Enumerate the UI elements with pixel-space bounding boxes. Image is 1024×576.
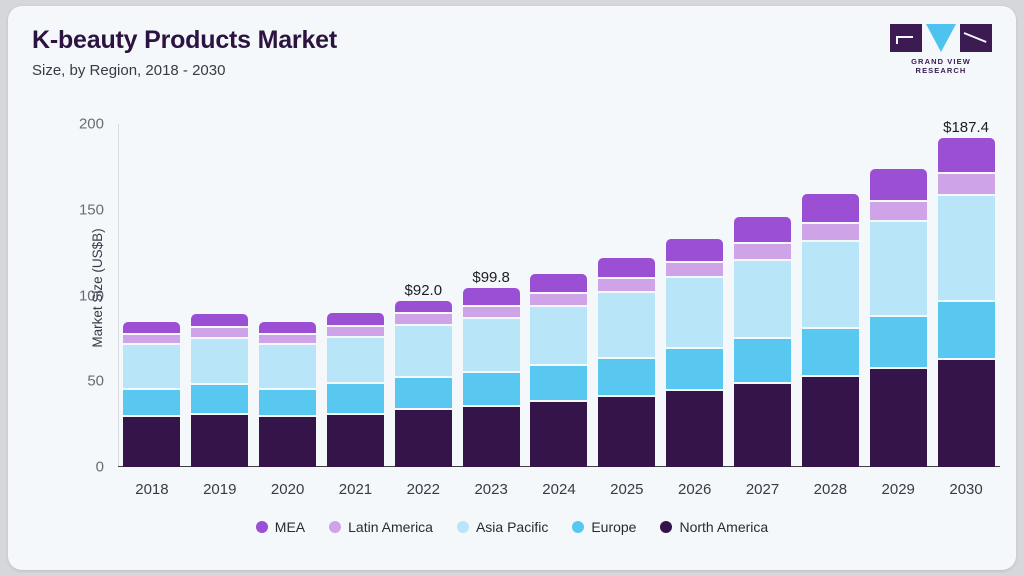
- bar-segment[interactable]: [870, 202, 927, 220]
- x-axis-tick-label: 2019: [191, 481, 248, 498]
- bar-segment[interactable]: [259, 335, 316, 343]
- bar-segment[interactable]: [734, 384, 791, 467]
- bar-segment[interactable]: [938, 302, 995, 358]
- x-axis-tick-label: 2029: [870, 481, 927, 498]
- x-axis-tick-label: 2025: [598, 481, 655, 498]
- legend-item[interactable]: Europe: [572, 519, 636, 535]
- bar-segment[interactable]: [938, 138, 995, 172]
- x-axis-tick-label: 2027: [734, 481, 791, 498]
- bar-segment[interactable]: [191, 328, 248, 337]
- x-axis-tick-label: 2026: [666, 481, 723, 498]
- bar-segment[interactable]: [463, 373, 520, 405]
- legend-color-dot-icon: [572, 521, 584, 533]
- legend-item[interactable]: MEA: [256, 519, 305, 535]
- bar-segment[interactable]: [734, 261, 791, 337]
- legend-label: Latin America: [348, 519, 433, 535]
- legend-label: Asia Pacific: [476, 519, 548, 535]
- bar-segment[interactable]: [123, 390, 180, 416]
- bar-segment[interactable]: [259, 417, 316, 467]
- bar-segment[interactable]: [123, 322, 180, 333]
- y-axis-tick-label: 150: [79, 201, 104, 218]
- bar-segment[interactable]: [463, 407, 520, 467]
- bar-segment[interactable]: [463, 288, 520, 305]
- bar-segment[interactable]: [598, 258, 655, 278]
- bar-segment[interactable]: [802, 329, 859, 375]
- x-axis-tick-label: 2030: [938, 481, 995, 498]
- bar-segment[interactable]: [598, 279, 655, 291]
- bar-column[interactable]: [870, 124, 927, 467]
- legend-color-dot-icon: [256, 521, 268, 533]
- bar-column[interactable]: [802, 124, 859, 467]
- logo-v-triangle-icon: [926, 24, 956, 52]
- bar-segment[interactable]: [259, 322, 316, 333]
- logo-marks: [890, 24, 992, 52]
- bar-segment[interactable]: [191, 385, 248, 412]
- chart-card: K-beauty Products Market Size, by Region…: [8, 6, 1016, 570]
- page-title: K-beauty Products Market: [32, 26, 337, 55]
- bar-column[interactable]: [530, 124, 587, 467]
- bar-segment[interactable]: [530, 366, 587, 399]
- x-axis-tick-label: 2018: [123, 481, 180, 498]
- y-axis-title: Market Size (US$B): [90, 228, 105, 347]
- x-axis-labels: 2018201920202021202220232024202520262027…: [118, 476, 1000, 502]
- bar-segment[interactable]: [666, 278, 723, 347]
- bar-segment[interactable]: [870, 169, 927, 200]
- bar-segment[interactable]: [598, 397, 655, 467]
- x-axis-tick-label: 2028: [802, 481, 859, 498]
- bar-column[interactable]: [327, 124, 384, 467]
- bar-segment[interactable]: [870, 369, 927, 467]
- logo-g-block-icon: [890, 24, 922, 52]
- y-axis-tick-label: 50: [87, 373, 104, 390]
- legend-item[interactable]: Asia Pacific: [457, 519, 548, 535]
- bar-segment[interactable]: [666, 349, 723, 388]
- bar-segment[interactable]: [327, 384, 384, 412]
- bar-value-label: $92.0: [405, 282, 443, 299]
- legend-item[interactable]: North America: [660, 519, 768, 535]
- bar-segment[interactable]: [666, 263, 723, 276]
- legend-label: Europe: [591, 519, 636, 535]
- bar-segment[interactable]: [327, 327, 384, 336]
- legend-label: North America: [679, 519, 768, 535]
- bar-column[interactable]: [259, 124, 316, 467]
- bar-column[interactable]: [666, 124, 723, 467]
- x-axis-tick-label: 2020: [259, 481, 316, 498]
- logo-r-block-icon: [960, 24, 992, 52]
- bar-segment[interactable]: [598, 359, 655, 395]
- bar-segment[interactable]: [123, 417, 180, 467]
- bar-segment[interactable]: [598, 293, 655, 356]
- legend-color-dot-icon: [660, 521, 672, 533]
- bar-segment[interactable]: [802, 194, 859, 221]
- grand-view-research-logo: GRAND VIEW RESEARCH: [890, 24, 992, 75]
- bar-column[interactable]: $92.0: [395, 124, 452, 467]
- legend-color-dot-icon: [329, 521, 341, 533]
- bar-segment[interactable]: [327, 338, 384, 383]
- bar-segment[interactable]: [123, 335, 180, 343]
- bar-segment[interactable]: [802, 377, 859, 467]
- x-axis-tick-label: 2021: [327, 481, 384, 498]
- bar-segment[interactable]: [463, 319, 520, 371]
- bar-segment[interactable]: [530, 294, 587, 305]
- bar-segment[interactable]: [395, 326, 452, 376]
- bar-column[interactable]: $99.8: [463, 124, 520, 467]
- bar-column[interactable]: $187.4: [938, 124, 995, 467]
- bar-segment[interactable]: [802, 242, 859, 327]
- legend-label: MEA: [275, 519, 305, 535]
- y-axis-tick-label: 200: [79, 116, 104, 133]
- bar-segment[interactable]: [259, 390, 316, 416]
- x-axis-tick-label: 2022: [395, 481, 452, 498]
- bar-segment[interactable]: [191, 339, 248, 384]
- bar-segment[interactable]: [530, 274, 587, 292]
- bar-column[interactable]: [191, 124, 248, 467]
- bar-segment[interactable]: [938, 174, 995, 195]
- bar-segment[interactable]: [327, 415, 384, 467]
- x-axis-tick-label: 2023: [463, 481, 520, 498]
- bar-segment[interactable]: [734, 217, 791, 242]
- bar-segment[interactable]: [666, 239, 723, 261]
- bar-segment[interactable]: [734, 244, 791, 259]
- bar-segment[interactable]: [327, 313, 384, 325]
- legend-item[interactable]: Latin America: [329, 519, 433, 535]
- bar-segment[interactable]: [666, 391, 723, 467]
- bar-value-label: $187.4: [943, 119, 989, 136]
- bar-segment[interactable]: [395, 378, 452, 409]
- bar-segment[interactable]: [395, 410, 452, 467]
- bar-segment[interactable]: [191, 314, 248, 326]
- bar-segment[interactable]: [870, 222, 927, 315]
- bar-column[interactable]: [598, 124, 655, 467]
- bar-group: $92.0$99.8$187.4: [118, 124, 1000, 467]
- plot-area: 050100150200 $92.0$99.8$187.4: [118, 124, 1000, 467]
- bar-segment[interactable]: [530, 402, 587, 467]
- bar-segment[interactable]: [259, 345, 316, 388]
- bar-column[interactable]: [734, 124, 791, 467]
- bar-column[interactable]: [123, 124, 180, 467]
- bar-value-label: $99.8: [472, 269, 510, 286]
- x-axis-tick-label: 2024: [530, 481, 587, 498]
- bar-segment[interactable]: [870, 317, 927, 368]
- bar-segment[interactable]: [395, 314, 452, 323]
- legend-color-dot-icon: [457, 521, 469, 533]
- bar-segment[interactable]: [938, 360, 995, 467]
- bar-segment[interactable]: [191, 415, 248, 467]
- y-axis-tick-label: 0: [96, 459, 104, 476]
- chart-legend: MEALatin AmericaAsia PacificEuropeNorth …: [8, 519, 1016, 535]
- logo-text: GRAND VIEW RESEARCH: [890, 57, 992, 75]
- bar-segment[interactable]: [395, 301, 452, 312]
- bar-segment[interactable]: [802, 224, 859, 240]
- bar-segment[interactable]: [938, 196, 995, 300]
- bar-segment[interactable]: [123, 345, 180, 388]
- page-subtitle: Size, by Region, 2018 - 2030: [32, 62, 225, 79]
- bar-segment[interactable]: [463, 307, 520, 317]
- bar-segment[interactable]: [530, 307, 587, 364]
- bar-segment[interactable]: [734, 339, 791, 382]
